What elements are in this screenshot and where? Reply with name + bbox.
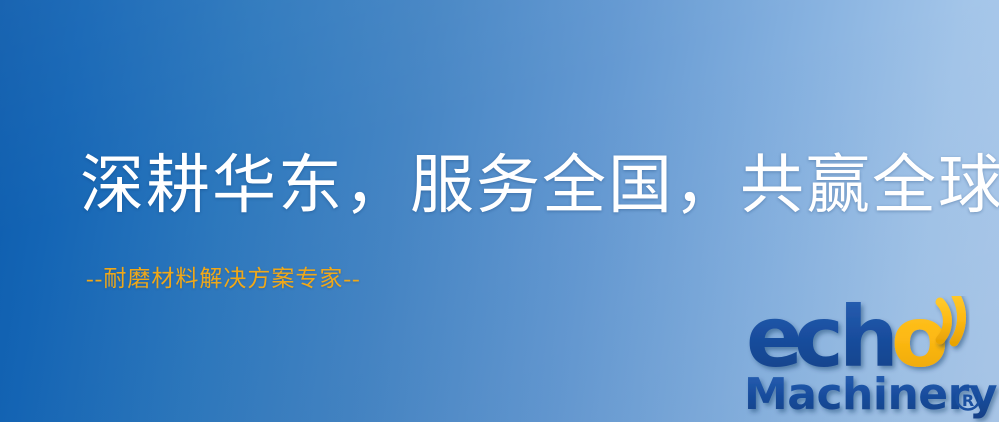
- hero-banner: 深耕华东，服务全国，共赢全球 --耐磨材料解决方案专家--: [0, 0, 999, 422]
- echo-machinery-logo[interactable]: e c h o Machinery R: [744, 296, 999, 422]
- signal-wave-icon: [940, 296, 962, 342]
- svg-text:R: R: [962, 391, 974, 410]
- page-subtitle: --耐磨材料解决方案专家--: [86, 266, 361, 291]
- logo-tagline: Machinery: [744, 369, 997, 420]
- logo-artwork: e c h o Machinery R: [744, 296, 999, 422]
- page-title: 深耕华东，服务全国，共赢全球: [80, 152, 999, 219]
